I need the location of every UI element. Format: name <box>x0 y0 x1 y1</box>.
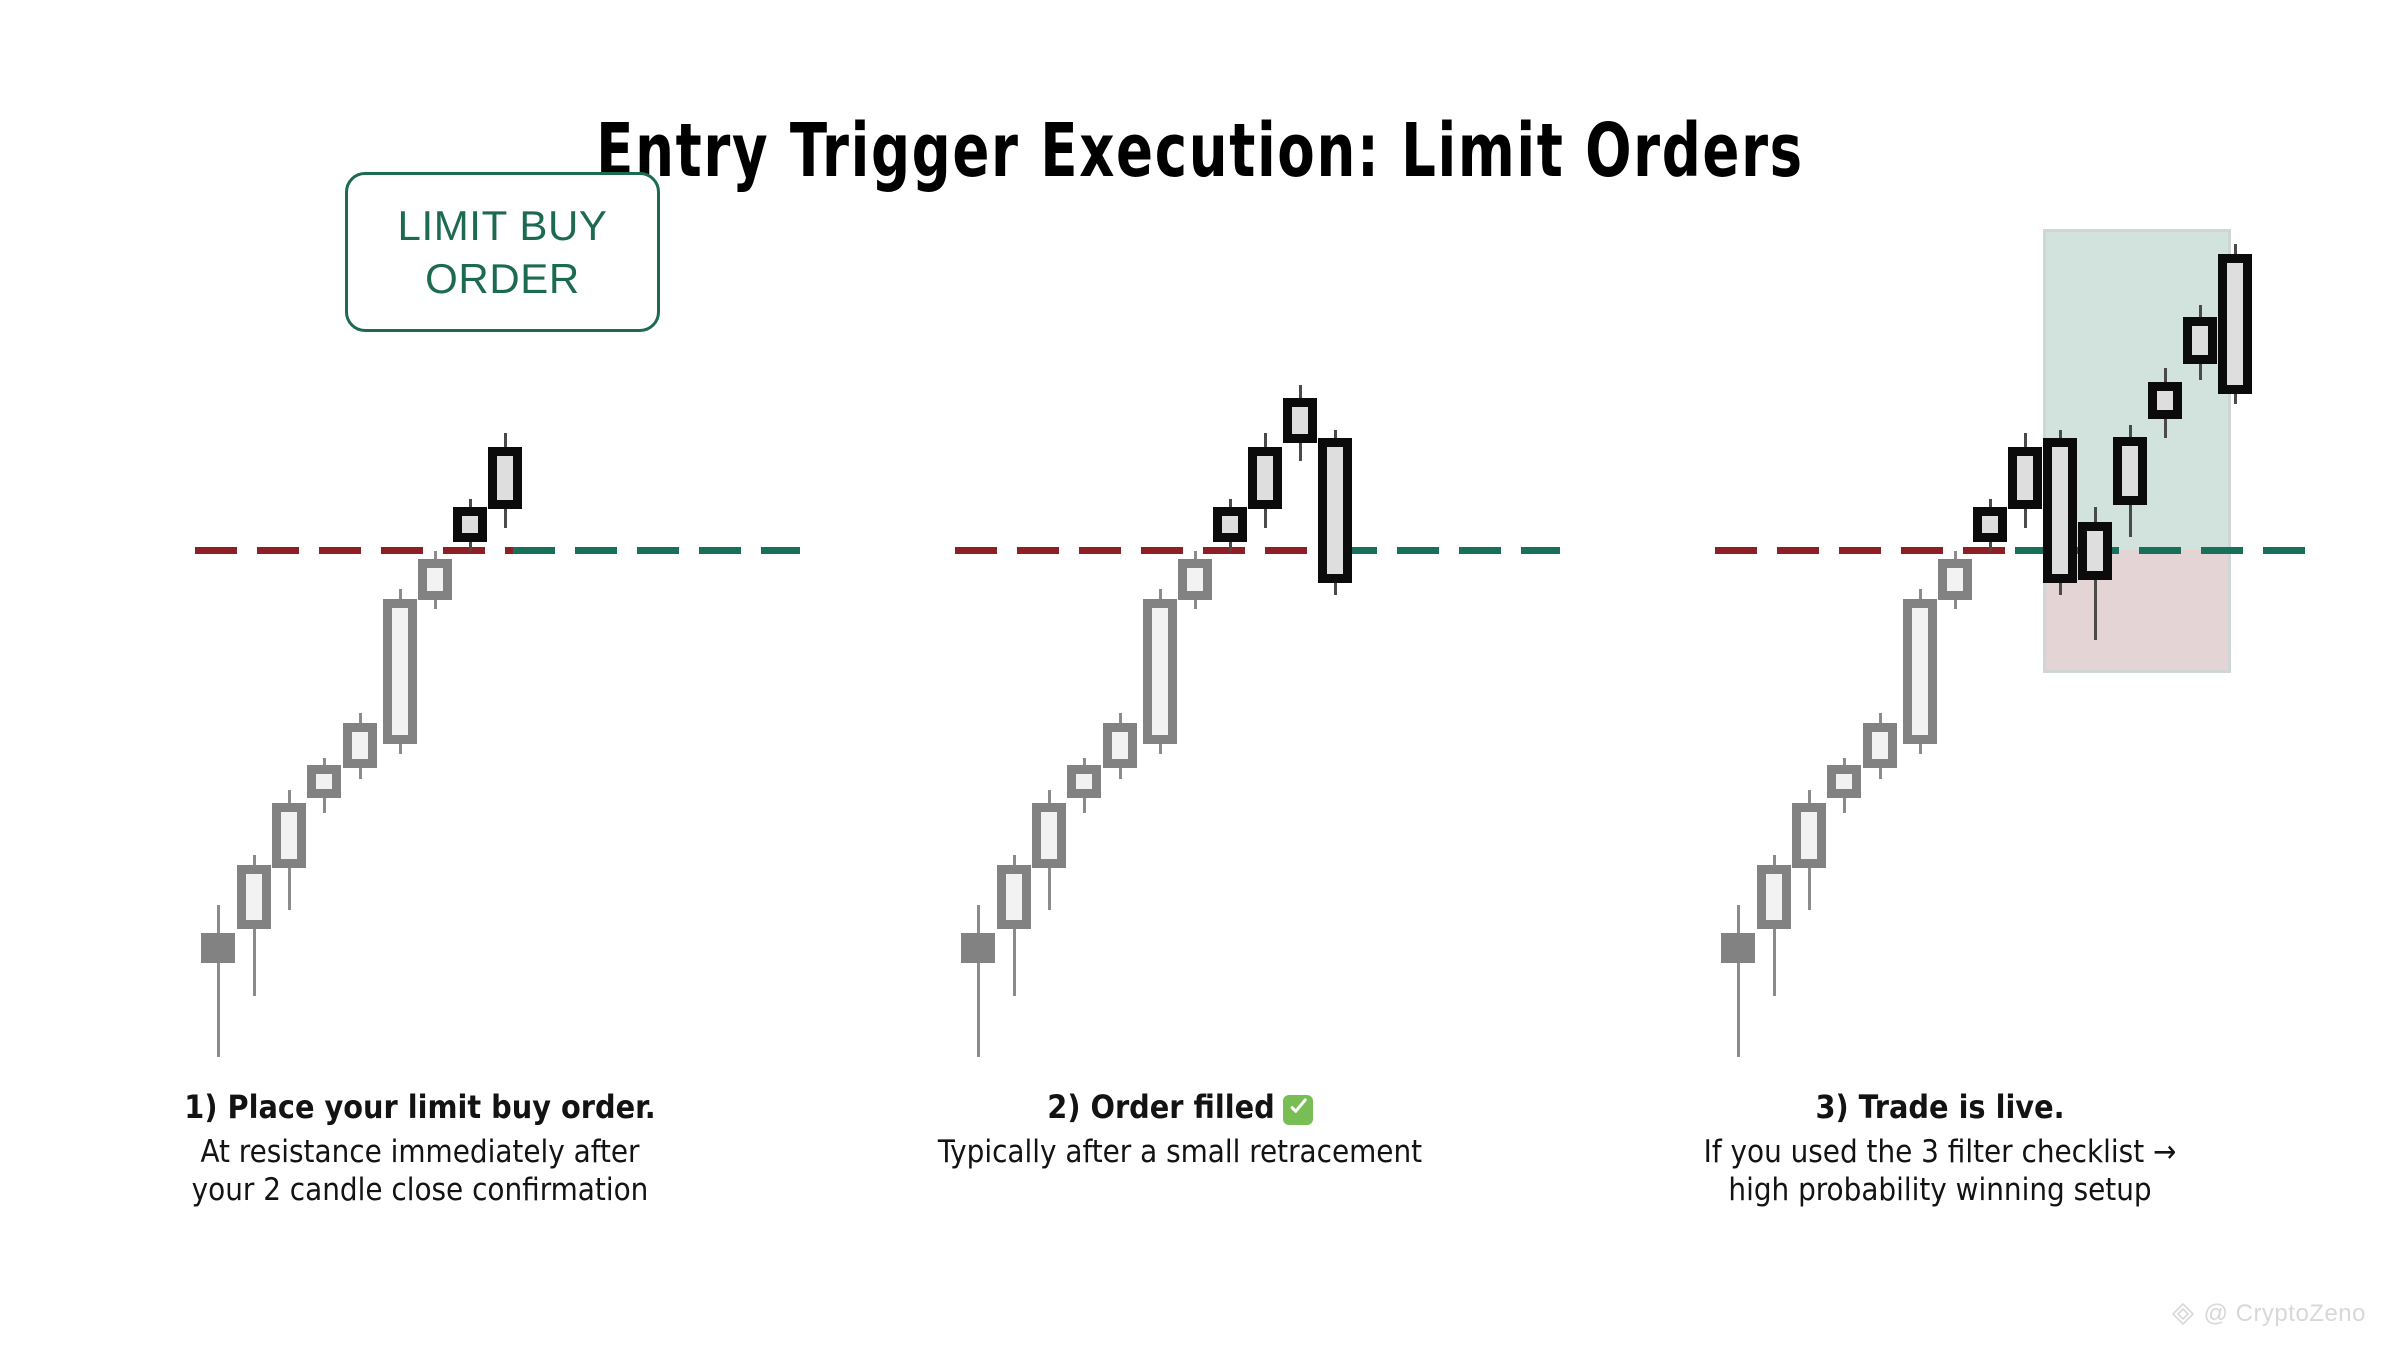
panel-3-caption-sub: If you used the 3 filter checklist → hig… <box>1560 1134 2320 1210</box>
candle-body <box>1178 559 1212 600</box>
candle-body <box>997 865 1031 929</box>
panel-2-caption-sub-line-1: Typically after a small retracement <box>800 1134 1560 1172</box>
candle-body <box>1938 559 1972 600</box>
panel-2-order-filled: 2) Order filled Typically after a small … <box>800 0 1560 1350</box>
resistance-line-red-left <box>1715 547 2055 554</box>
panel-2-caption-head-text: 2) Order filled <box>1047 1088 1274 1126</box>
panel-1-chart: LIMIT BUY ORDER <box>40 0 800 1040</box>
candle-body <box>2078 522 2112 580</box>
panel-3-caption-head-text: 3) Trade is live. <box>1815 1088 2064 1126</box>
panel-2-caption-head: 2) Order filled <box>800 1088 1560 1126</box>
candle-body <box>343 723 377 768</box>
candle-body <box>272 803 306 868</box>
candle-body <box>1792 803 1826 868</box>
candle-body <box>418 559 452 600</box>
panel-1-caption-sub-line-1: At resistance immediately after <box>40 1134 800 1172</box>
candle-body <box>961 933 995 963</box>
candle-body <box>1863 723 1897 768</box>
candle-body <box>2183 317 2217 364</box>
candle-body <box>1318 438 1352 583</box>
candle-body <box>2113 437 2147 505</box>
panel-1-caption-sub: At resistance immediately after your 2 c… <box>40 1134 800 1210</box>
candle-body <box>1721 933 1755 963</box>
candle-body <box>237 865 271 929</box>
resistance-line-green-right <box>513 547 800 554</box>
panel-1-caption-head: 1) Place your limit buy order. <box>40 1088 800 1126</box>
panel-1-caption-head-text: 1) Place your limit buy order. <box>184 1088 655 1126</box>
candle-body <box>1032 803 1066 868</box>
candle-body <box>1248 447 1282 509</box>
candle-body <box>1143 599 1177 744</box>
candle-body <box>2043 438 2077 583</box>
candle-body <box>453 507 487 542</box>
panel-3-caption-sub-line-2: high probability winning setup <box>1560 1172 2320 1210</box>
resistance-line-green-right <box>1335 547 1560 554</box>
panel-3-trade-live: 3) Trade is live. If you used the 3 filt… <box>1560 0 2320 1350</box>
watermark: @ CryptoZeno <box>2170 1300 2366 1328</box>
candle-body <box>1283 398 1317 443</box>
candle-wick <box>977 905 980 1057</box>
panel-2-chart <box>800 0 1560 1040</box>
watermark-handle: @ CryptoZeno <box>2204 1300 2366 1328</box>
panel-2-caption-sub: Typically after a small retracement <box>800 1134 1560 1172</box>
candle-body <box>1827 765 1861 798</box>
candle-body <box>1903 599 1937 744</box>
candle-body <box>1757 865 1791 929</box>
callout-line-2: ORDER <box>425 252 580 305</box>
resistance-line-red-left <box>955 547 1355 554</box>
panel-3-chart <box>1560 0 2320 1040</box>
infographic-canvas: Entry Trigger Execution: Limit Orders <box>0 0 2400 1350</box>
candle-body <box>2008 447 2042 509</box>
candle-body <box>2148 382 2182 419</box>
panel-3-caption-head: 3) Trade is live. <box>1560 1088 2320 1126</box>
candle-wick <box>217 905 220 1057</box>
candle-wick <box>1737 905 1740 1057</box>
check-mark-icon <box>1283 1095 1313 1125</box>
candle-body <box>1213 507 1247 542</box>
resistance-line-red-left <box>195 547 555 554</box>
diamond-logo-icon <box>2170 1301 2196 1327</box>
candle-body <box>201 933 235 963</box>
candle-body <box>2218 254 2252 394</box>
candle-body <box>307 765 341 798</box>
callout-line-1: LIMIT BUY <box>397 199 607 252</box>
limit-buy-order-callout: LIMIT BUY ORDER <box>345 172 660 332</box>
panel-3-caption-sub-line-1: If you used the 3 filter checklist → <box>1560 1134 2320 1172</box>
candle-body <box>1103 723 1137 768</box>
candle-body <box>1973 507 2007 542</box>
panel-1-place-order: LIMIT BUY ORDER 1) Place your limit buy … <box>40 0 800 1350</box>
candle-body <box>1067 765 1101 798</box>
panel-1-caption-sub-line-2: your 2 candle close confirmation <box>40 1172 800 1210</box>
candle-body <box>488 447 522 509</box>
candle-body <box>383 599 417 744</box>
